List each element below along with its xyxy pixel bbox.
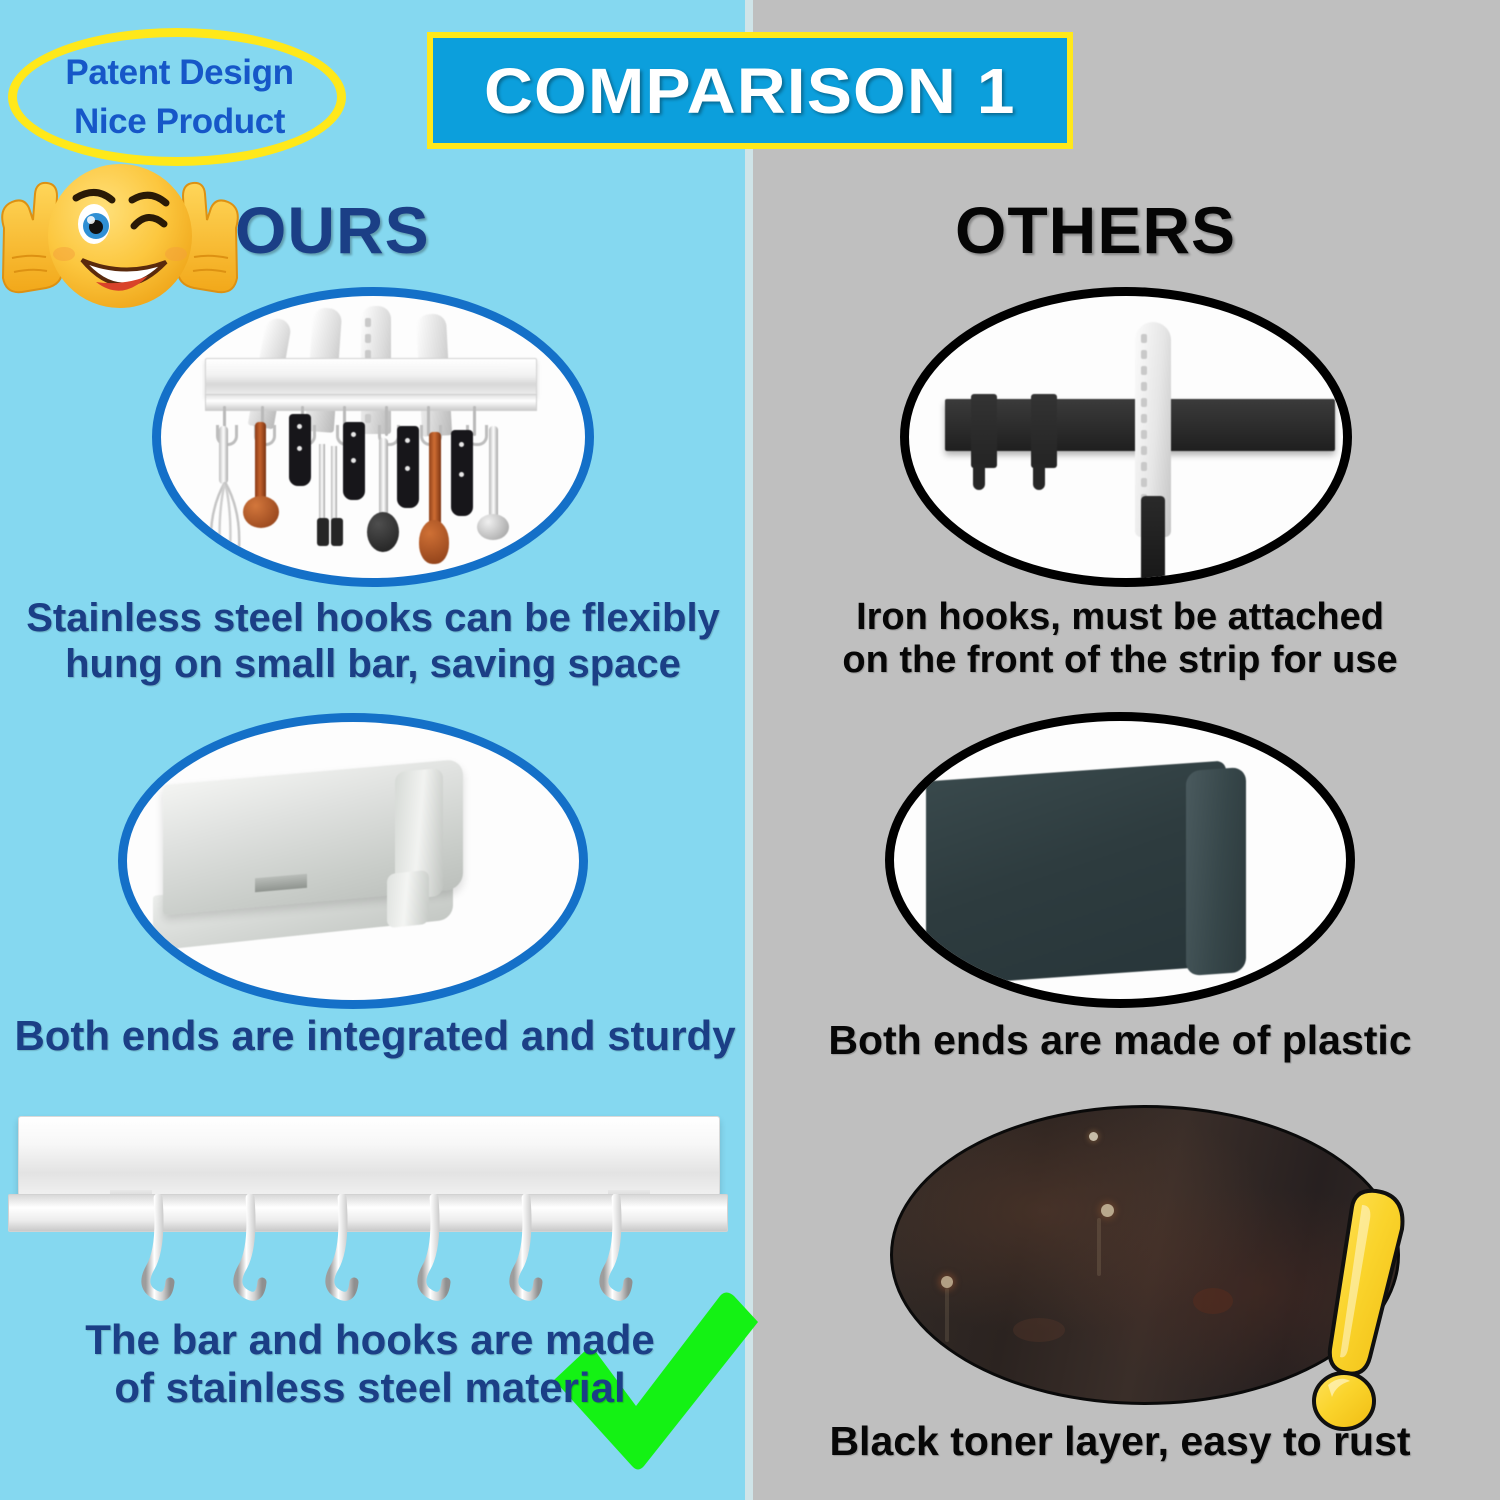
others-hooks-caption-line1: Iron hooks, must be attached <box>790 596 1450 639</box>
ours-material-photo <box>8 1108 726 1308</box>
ours-hooks-photo <box>152 287 594 587</box>
ours-hooks-caption-line1: Stainless steel hooks can be flexibly <box>20 596 726 642</box>
others-ends-caption: Both ends are made of plastic <box>790 1017 1450 1064</box>
others-material-caption: Black toner layer, easy to rust <box>790 1418 1450 1465</box>
ours-ends-caption: Both ends are integrated and sturdy <box>10 1012 740 1060</box>
ours-ends-photo <box>118 713 588 1009</box>
others-material-caption-line1: Black toner layer, easy to rust <box>790 1418 1450 1465</box>
comparison-banner-title: COMPARISON 1 <box>484 54 1016 128</box>
others-hooks-caption: Iron hooks, must be attached on the fron… <box>790 596 1450 683</box>
ours-heading: OURS <box>235 192 430 268</box>
ours-hooks-caption: Stainless steel hooks can be flexibly hu… <box>20 596 726 687</box>
comparison-infographic: Patent Design Nice Product <box>0 0 1500 1500</box>
ours-material-caption: The bar and hooks are made of stainless … <box>60 1316 680 1412</box>
comparison-banner: COMPARISON 1 <box>427 32 1073 149</box>
patent-badge-text: Patent Design Nice Product <box>22 48 337 146</box>
ours-material-caption-line2: of stainless steel material <box>60 1364 680 1412</box>
ours-ends-caption-line1: Both ends are integrated and sturdy <box>10 1012 740 1060</box>
yellow-exclamation-icon <box>1310 1185 1420 1435</box>
patent-badge-line1: Patent Design <box>22 48 337 97</box>
ours-material-caption-line1: The bar and hooks are made <box>60 1316 680 1364</box>
thumbs-up-wink-emoji-icon <box>0 150 240 310</box>
others-hooks-photo <box>900 287 1352 587</box>
ours-hooks-caption-line2: hung on small bar, saving space <box>20 642 726 688</box>
others-ends-photo <box>885 712 1355 1008</box>
panel-divider <box>745 0 753 1500</box>
others-ends-caption-line1: Both ends are made of plastic <box>790 1017 1450 1064</box>
others-hooks-caption-line2: on the front of the strip for use <box>790 639 1450 682</box>
patent-badge-line2: Nice Product <box>22 97 337 146</box>
others-heading: OTHERS <box>955 192 1236 268</box>
